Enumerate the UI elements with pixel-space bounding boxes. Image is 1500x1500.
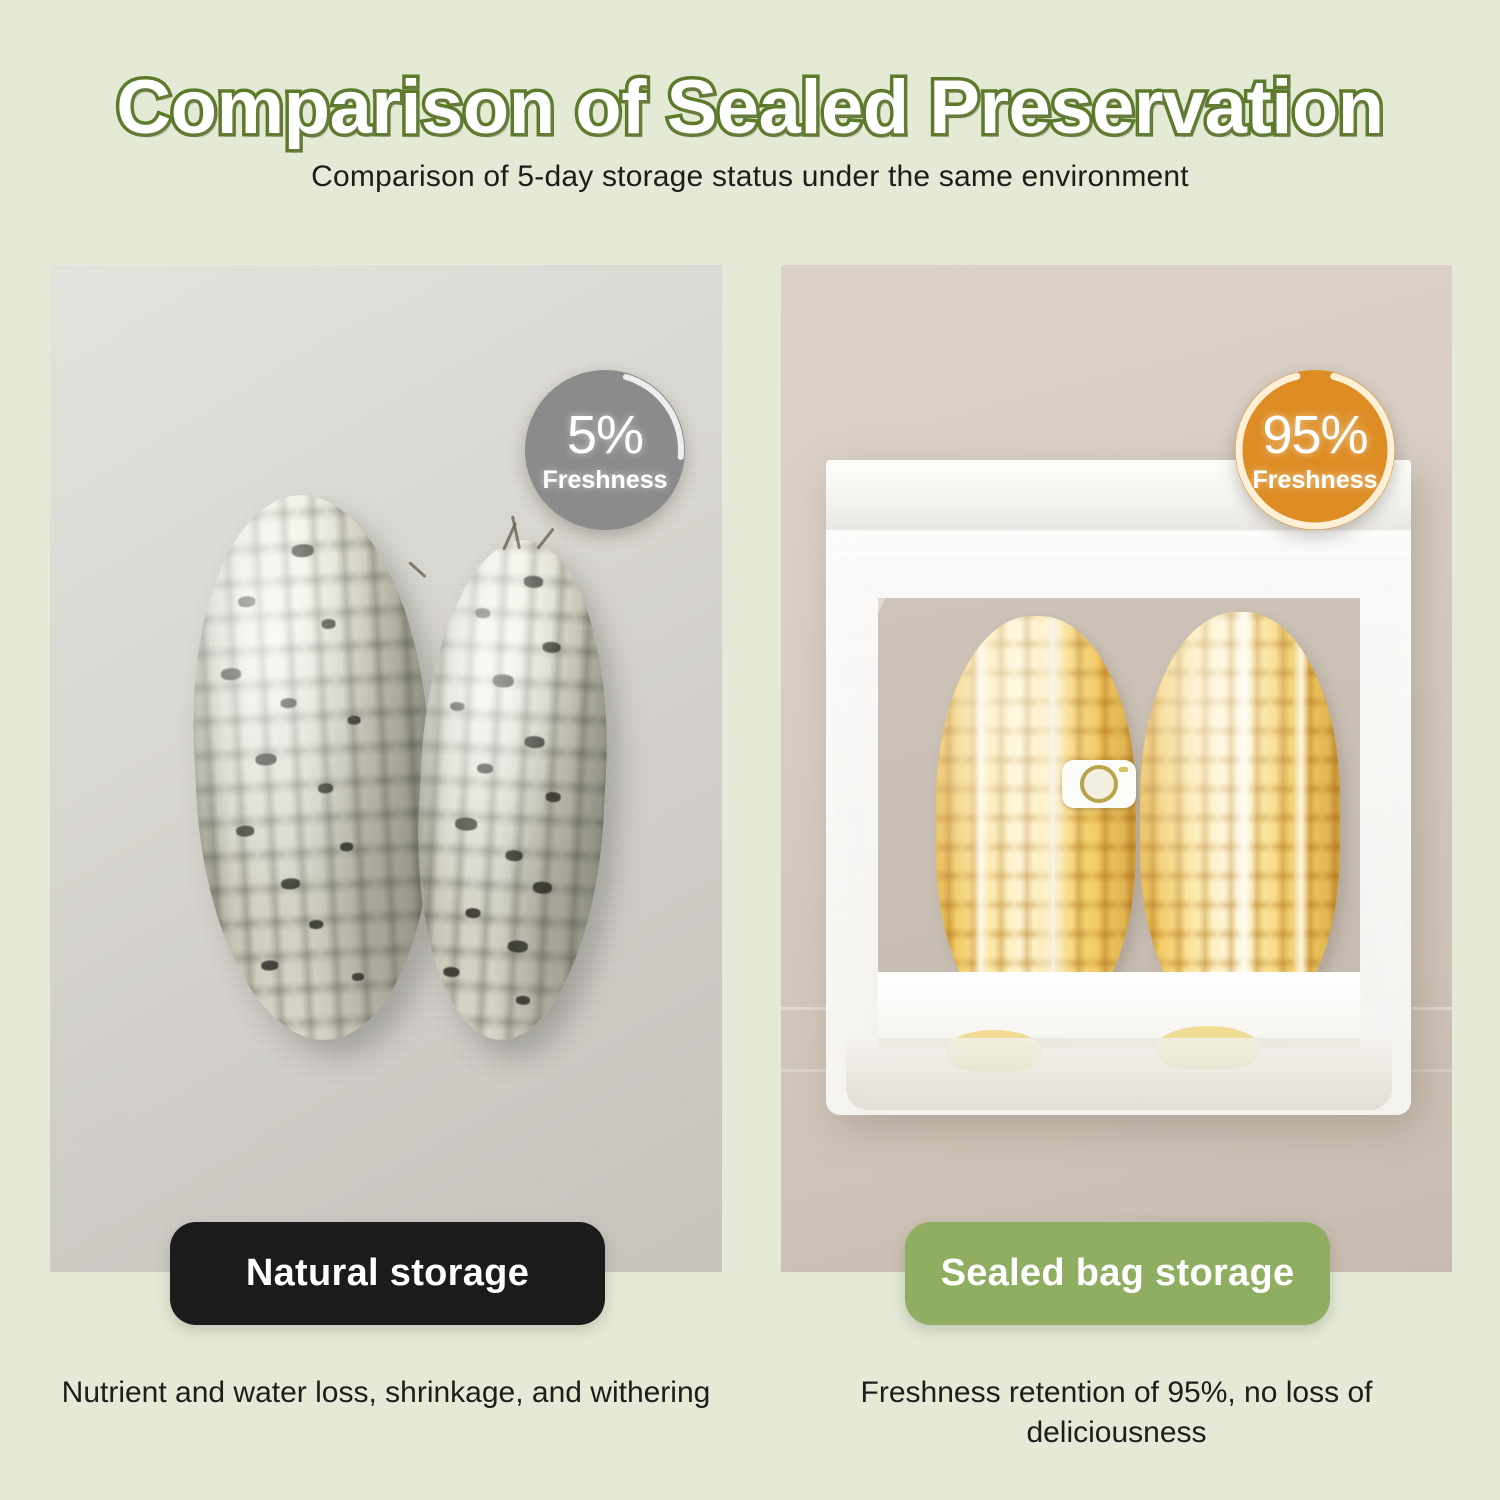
freshness-badge-sealed: 95% Freshness [1235,370,1395,530]
freshness-percent: 5% [567,408,643,462]
spoiled-corn-cob-2 [407,536,618,1045]
bag-bottom-fold [846,1038,1392,1110]
freshness-label: Freshness [542,468,667,493]
bag-bottom-seal [878,972,1360,1038]
storage-label-natural[interactable]: Natural storage [170,1222,605,1325]
valve-ring-icon [1080,765,1118,803]
infographic-canvas: Comparison of Sealed Preservation Compar… [0,0,1500,1500]
freshness-percent: 95% [1262,408,1367,462]
bag-vacuum-valve[interactable] [1062,760,1136,808]
page-title: Comparison of Sealed Preservation [0,64,1500,151]
spoiled-corn-cob-1 [181,489,444,1046]
freshness-badge-natural: 5% Freshness [525,370,685,530]
valve-indicator-icon [1119,767,1128,772]
freshness-label: Freshness [1252,468,1377,493]
photo-panel-natural-storage: 5% Freshness [50,265,722,1272]
page-subtitle: Comparison of 5-day storage status under… [0,160,1500,194]
storage-label-sealed-text: Sealed bag storage [941,1252,1295,1295]
sealed-storage-bag [826,460,1411,1115]
storage-label-natural-text: Natural storage [246,1252,529,1295]
photo-panel-sealed-bag-storage: 95% Freshness [781,265,1452,1272]
caption-natural-storage: Nutrient and water loss, shrinkage, and … [50,1373,722,1413]
caption-sealed-bag-storage: Freshness retention of 95%, no loss of d… [781,1373,1452,1453]
storage-label-sealed[interactable]: Sealed bag storage [905,1222,1330,1325]
